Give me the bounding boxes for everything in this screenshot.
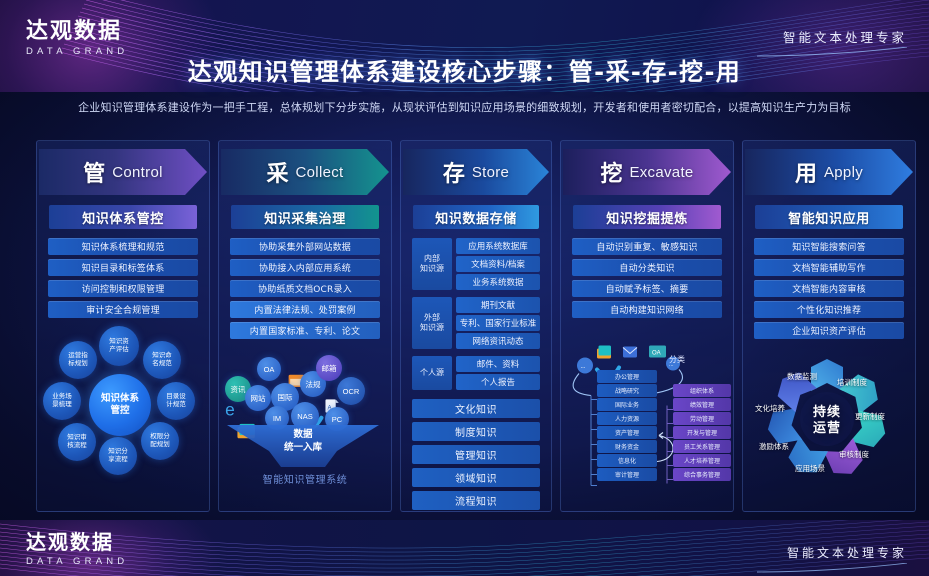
step-title-cn: 用 [795, 156, 818, 188]
feature-item[interactable]: 知识智能搜索问答 [754, 238, 904, 255]
feature-item[interactable]: 知识目录和标签体系 [48, 259, 198, 276]
knowledge-type[interactable]: 文化知识 [412, 399, 540, 418]
storage-group: 外部 知识源 期刊文献 专利、国家行业标准 网络资讯动态 [412, 297, 540, 349]
feature-list-collect: 协助采集外部网站数据 协助接入内部应用系统 协助纸质文档OCR录入 内置法律法规… [230, 238, 380, 339]
source-bubble-email[interactable]: 邮箱 [316, 355, 342, 381]
step-subhead-control: 知识体系管控 [49, 205, 197, 229]
knowledge-type[interactable]: 管理知识 [412, 445, 540, 464]
label-line2: 知识源 [420, 264, 444, 274]
cluster-center-node: 知识体系 管控 [89, 374, 151, 436]
satellite-line2: 配规划 [150, 441, 170, 449]
page-title: 达观知识管理体系建设核心步骤：管-采-存-挖-用 [0, 52, 929, 87]
cluster-satellite[interactable]: 知识分 享流程 [99, 437, 137, 475]
satellite-line2: 享流程 [108, 456, 128, 464]
satellite-line2: 产评估 [109, 346, 129, 354]
step-title-cn: 管 [83, 156, 106, 188]
feature-list-apply: 知识智能搜索问答 文档智能辅助写作 文档智能内容审核 个性化知识推荐 企业知识资… [754, 238, 904, 339]
flow-node-left[interactable]: 办公管理 [597, 370, 657, 383]
cluster-satellite[interactable]: 业务场 景梳理 [43, 382, 81, 420]
cycle-segment-label[interactable]: 应用场景 [795, 463, 825, 474]
storage-group: 内部 知识源 应用系统数据库 文档资料/档案 业务系统数据 [412, 238, 540, 290]
flow-node-left[interactable]: 国际业务 [597, 398, 657, 411]
knowledge-type[interactable]: 流程知识 [412, 491, 540, 510]
step-title-cn: 采 [267, 156, 290, 188]
svg-text:OA: OA [652, 351, 661, 357]
feature-item[interactable]: 企业知识资产评估 [754, 322, 904, 339]
feature-item[interactable]: 知识体系梳理和规范 [48, 238, 198, 255]
intake-line2: 统一入库 [227, 442, 379, 455]
feature-item[interactable]: 文档智能辅助写作 [754, 259, 904, 276]
step-subhead-collect: 知识采集治理 [231, 205, 379, 229]
step-title-cn: 存 [443, 156, 466, 188]
feature-item[interactable]: 协助接入内部应用系统 [230, 259, 380, 276]
flow-node-right[interactable]: 人才培养管理 [673, 454, 731, 467]
cycle-segment-label[interactable]: 文化培养 [755, 403, 785, 414]
feature-list-control: 知识体系梳理和规范 知识目录和标签体系 访问控制和权限管理 审计安全合规管理 [48, 238, 198, 318]
footer-brand-slogan: 智能文本处理专家 [787, 544, 907, 561]
step-arrow-control: 管 Control [39, 149, 207, 195]
storage-group-label: 个人源 [412, 356, 452, 390]
feature-item[interactable]: 自动赋予标签、摘要 [572, 280, 722, 297]
step-arrow-excavate: 挖 Excavate [563, 149, 731, 195]
satellite-line2: 名规范 [152, 360, 172, 368]
svg-text:e: e [225, 400, 235, 420]
label-line2: 知识源 [420, 323, 444, 333]
feature-item[interactable]: 内置国家标准、专利、论文 [230, 322, 380, 339]
feature-item[interactable]: 协助纸质文档OCR录入 [230, 280, 380, 297]
cycle-segment-label[interactable]: 激励体系 [759, 441, 789, 452]
data-intake-label: 数据 统一入库 [227, 429, 379, 455]
feature-item[interactable]: 文档智能内容审核 [754, 280, 904, 297]
knowledge-type[interactable]: 制度知识 [412, 422, 540, 441]
storage-row[interactable]: 个人报告 [456, 374, 540, 390]
step-title-en: Control [112, 164, 162, 181]
storage-group-rows: 应用系统数据库 文档资料/档案 业务系统数据 [456, 238, 540, 290]
storage-group-rows: 邮件、资料 个人报告 [456, 356, 540, 390]
cluster-satellite[interactable]: 目录设 计规范 [157, 382, 195, 420]
storage-group-label: 内部 知识源 [412, 238, 452, 290]
cluster-satellite[interactable]: 知识资 产评估 [99, 326, 139, 366]
cycle-segment-label[interactable]: 数据监测 [787, 371, 817, 382]
classify-label: 分类 [669, 354, 685, 365]
label-line1: 外部 [424, 313, 440, 323]
storage-row[interactable]: 业务系统数据 [456, 274, 540, 290]
satellite-line2: 计规范 [166, 401, 186, 409]
continuous-operation-cycle: 持续 运营 数据监测 培训制度 更新制度 审核制度 应用场景 激励体系 文化培养 [743, 345, 915, 511]
knowledge-type-list: 文化知识 制度知识 管理知识 领域知识 流程知识 [412, 399, 540, 510]
cluster-center-line2: 管控 [110, 405, 129, 417]
feature-item[interactable]: 协助采集外部网站数据 [230, 238, 380, 255]
storage-groups: 内部 知识源 应用系统数据库 文档资料/档案 业务系统数据 外部 知识源 期刊文… [412, 238, 540, 390]
cycle-segment-label[interactable]: 审核制度 [839, 449, 869, 460]
flow-node-left[interactable]: 战略研究 [597, 384, 657, 397]
satellite-line2: 标规划 [68, 360, 88, 368]
step-arrow-store: 存 Store [403, 149, 549, 195]
step-arrow-collect: 采 Collect [221, 149, 389, 195]
step-title-en: Collect [296, 164, 344, 181]
storage-row[interactable]: 文档资料/档案 [456, 256, 540, 272]
step-subhead-store: 知识数据存储 [413, 205, 539, 229]
step-subhead-excavate: 知识挖掘提炼 [573, 205, 721, 229]
cycle-segment-label[interactable]: 培训制度 [837, 377, 867, 388]
page-subtitle: 企业知识管理体系建设作为一把手工程，总体规划下分步实施，从现状评估到知识应用场景… [25, 100, 905, 115]
feature-item[interactable]: 个性化知识推荐 [754, 301, 904, 318]
feature-list-excavate: 自动识别重复、敏感知识 自动分类知识 自动赋予标签、摘要 自动构建知识网络 [572, 238, 722, 318]
source-bubble-oa[interactable]: OA [257, 357, 281, 381]
satellite-line2: 核流程 [67, 442, 87, 450]
step-column-excavate[interactable]: 挖 Excavate 知识挖掘提炼 自动识别重复、敏感知识 自动分类知识 自动赋… [560, 140, 734, 512]
footer-band: 达观数据 DATA GRAND 智能文本处理专家 [0, 520, 929, 576]
cluster-satellite[interactable]: 权限分 配规划 [141, 422, 179, 460]
data-source-diagram: e A OA [219, 345, 391, 511]
knowledge-type[interactable]: 领域知识 [412, 468, 540, 487]
flow-node-right[interactable]: 综合事务管理 [673, 468, 731, 481]
cycle-center-line2: 运营 [751, 421, 903, 437]
flow-node-left[interactable]: 资产管理 [597, 426, 657, 439]
footer-brand-name-en: DATA GRAND [26, 556, 128, 567]
step-column-control[interactable]: 管 Control 知识体系管控 知识体系梳理和规范 知识目录和标签体系 访问控… [36, 140, 210, 512]
step-column-apply[interactable]: 用 Apply 智能知识应用 知识智能搜索问答 文档智能辅助写作 文档智能内容审… [742, 140, 916, 512]
feature-item[interactable]: 内置法律法规、处罚案例 [230, 301, 380, 318]
flow-node-left[interactable]: 信息化 [597, 454, 657, 467]
feature-item[interactable]: 自动分类知识 [572, 259, 722, 276]
label-line1: 内部 [424, 254, 440, 264]
cluster-satellite[interactable]: 知识审 核流程 [58, 423, 96, 461]
flow-node-left[interactable]: 财务资金 [597, 440, 657, 453]
intake-line1: 数据 [227, 429, 379, 442]
system-label: 智能知识管理系统 [219, 471, 391, 486]
flow-node-right[interactable]: 开发与管理 [673, 426, 731, 439]
cycle-segment-label[interactable]: 更新制度 [855, 411, 885, 422]
feature-item[interactable]: 自动构建知识网络 [572, 301, 722, 318]
footer-brand-logo: 达观数据 DATA GRAND [26, 532, 128, 567]
feature-item[interactable]: 访问控制和权限管理 [48, 280, 198, 297]
storage-group-label: 外部 知识源 [412, 297, 452, 349]
label-line1: 个人源 [420, 368, 444, 378]
brand-slogan: 智能文本处理专家 [783, 27, 907, 46]
storage-row[interactable]: 期刊文献 [456, 297, 540, 313]
cluster-satellite[interactable]: 运营指 标规划 [59, 341, 97, 379]
step-arrow-apply: 用 Apply [745, 149, 913, 195]
flow-node-left[interactable]: 审计管理 [597, 468, 657, 481]
storage-row[interactable]: 专利、国家行业标准 [456, 315, 540, 331]
flow-node-right[interactable]: 绩效管理 [673, 398, 731, 411]
flow-node-right[interactable]: 员工关系管理 [673, 440, 731, 453]
source-bubble-website[interactable]: 网站 [245, 385, 271, 411]
feature-item[interactable]: 自动识别重复、敏感知识 [572, 238, 722, 255]
step-column-collect[interactable]: 采 Collect 知识采集治理 协助采集外部网站数据 协助接入内部应用系统 协… [218, 140, 392, 512]
source-bubble-ocr[interactable]: OCR [337, 377, 365, 405]
cluster-satellite[interactable]: 知识命 名规范 [143, 341, 181, 379]
flow-node-right[interactable]: 组织体系 [673, 384, 731, 397]
storage-row[interactable]: 网络资讯动态 [456, 333, 540, 349]
storage-group-rows: 期刊文献 专利、国家行业标准 网络资讯动态 [456, 297, 540, 349]
bubble-cluster-diagram: 知识体系 管控 知识资 产评估 知识命 名规范 目录设 计规范 权限分 配规划 … [37, 324, 209, 511]
flow-node-left[interactable]: 人力资源 [597, 412, 657, 425]
storage-row[interactable]: 邮件、资料 [456, 356, 540, 372]
cluster-center-line1: 知识体系 [101, 393, 139, 405]
svg-text:...: ... [581, 364, 586, 370]
satellite-line2: 景梳理 [52, 401, 72, 409]
step-title-en: Apply [824, 164, 863, 181]
storage-group: 个人源 邮件、资料 个人报告 [412, 356, 540, 390]
feature-item[interactable]: 审计安全合规管理 [48, 301, 198, 318]
storage-row[interactable]: 应用系统数据库 [456, 238, 540, 254]
step-column-store[interactable]: 存 Store 知识数据存储 内部 知识源 应用系统数据库 文档资料/档案 业务… [400, 140, 552, 512]
step-title-cn: 挖 [600, 156, 623, 188]
step-title-en: Excavate [629, 164, 693, 181]
flow-node-right[interactable]: 劳动管理 [673, 412, 731, 425]
brand-name-cn: 达观数据 [26, 20, 128, 43]
classification-flow-diagram: OA ... ... [561, 324, 733, 511]
step-title-en: Store [472, 164, 509, 181]
footer-brand-name-cn: 达观数据 [26, 532, 128, 553]
step-subhead-apply: 智能知识应用 [755, 205, 903, 229]
footer-slogan-underline [757, 563, 907, 573]
steps-container: 管 Control 知识体系管控 知识体系梳理和规范 知识目录和标签体系 访问控… [36, 140, 916, 512]
